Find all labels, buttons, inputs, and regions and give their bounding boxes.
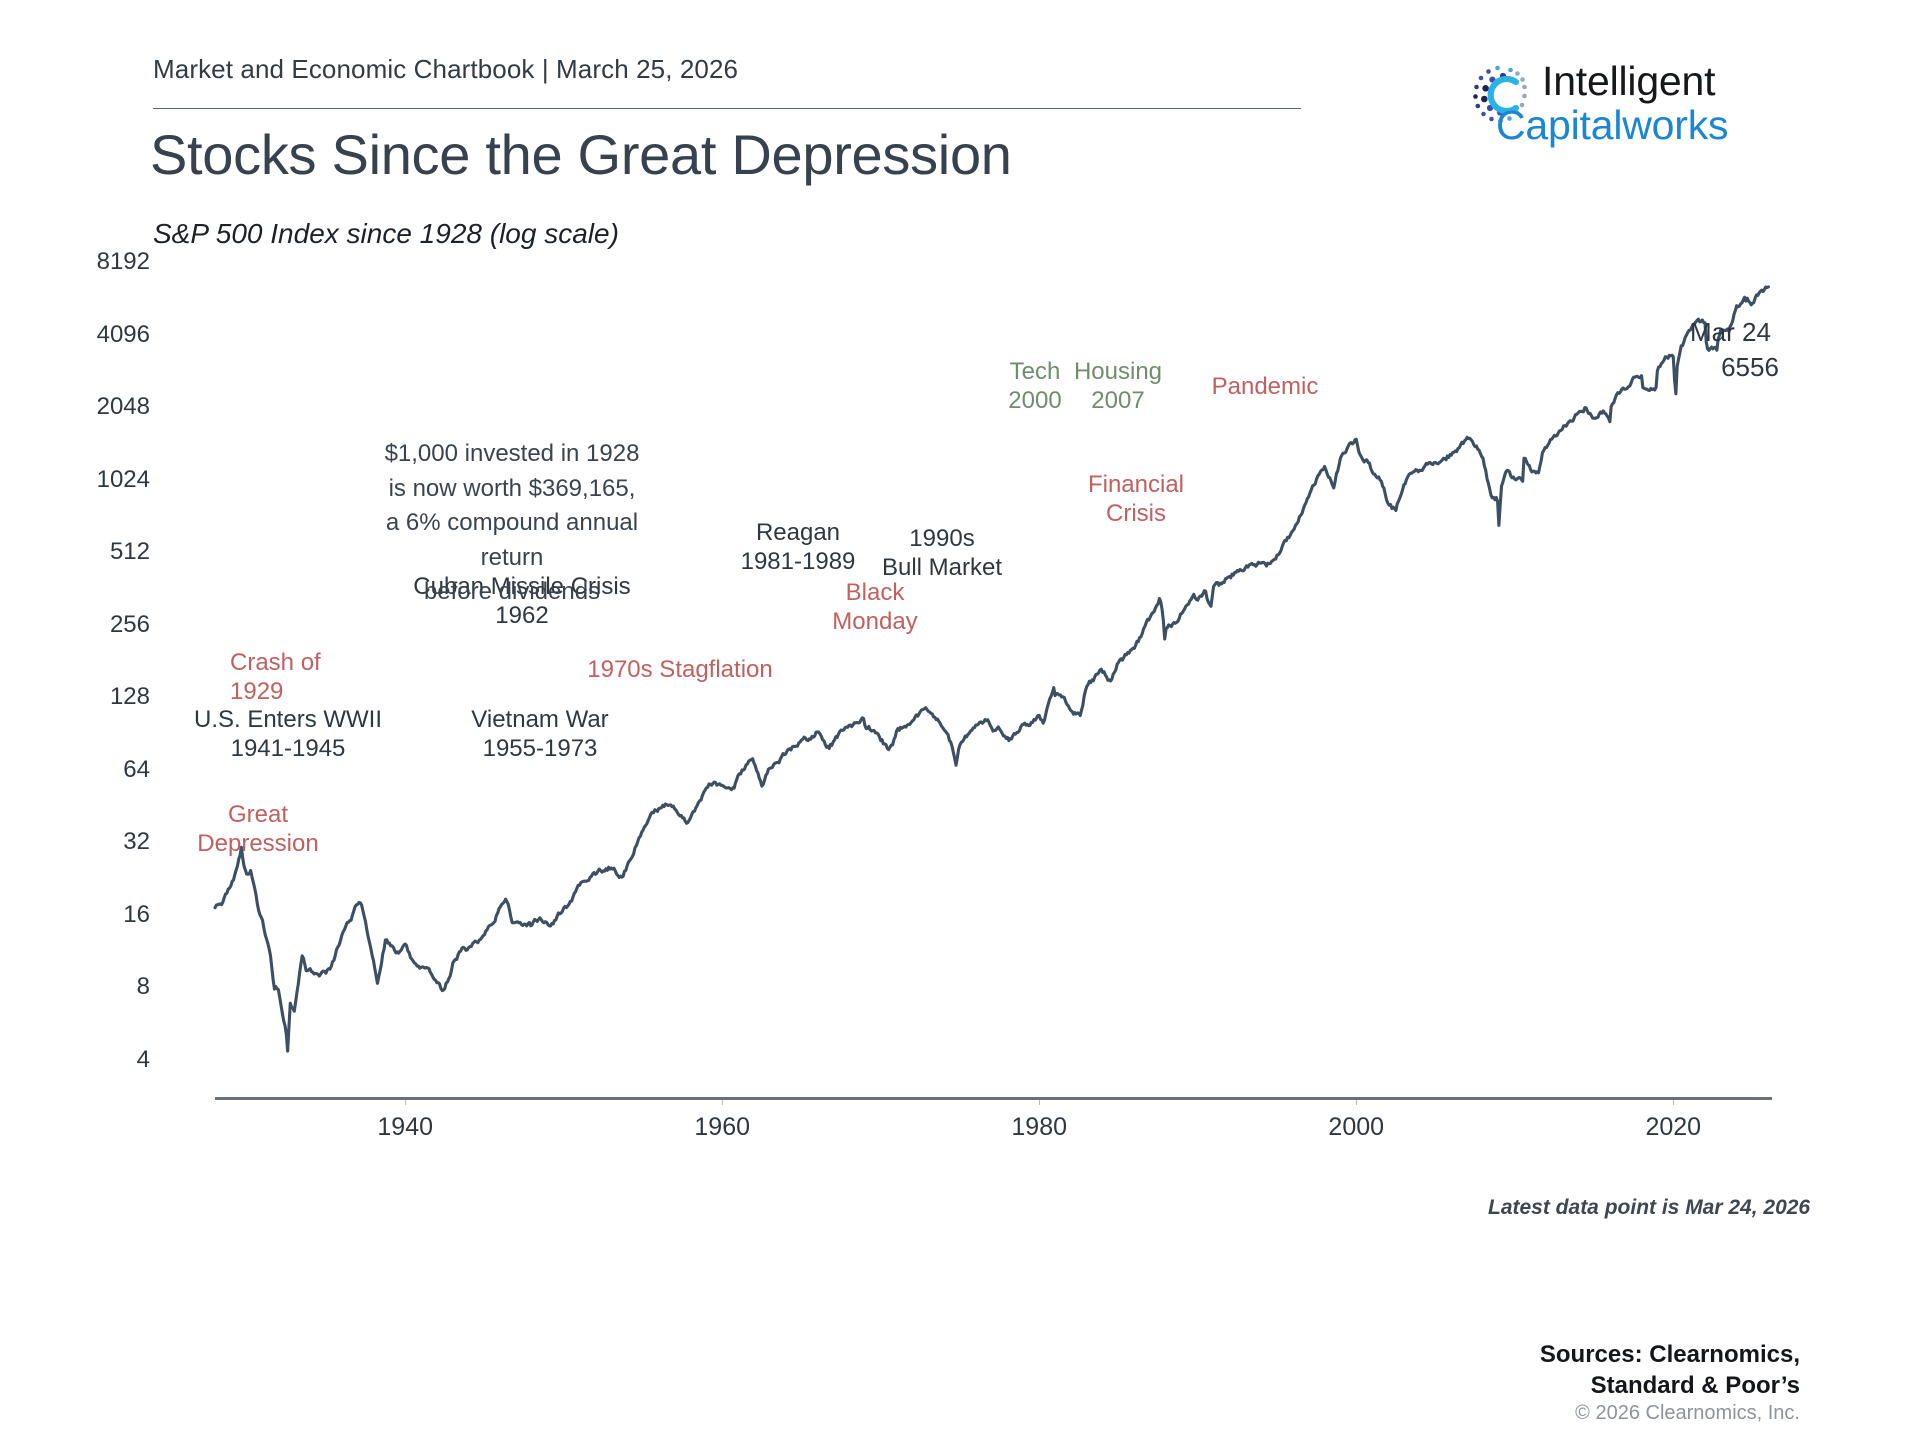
x-tick-mark-1940 [405, 1100, 406, 1105]
annotation-great-depression: Great Depression [138, 800, 378, 859]
y-tick-4: 4 [30, 1046, 150, 1074]
x-tick-mark-1980 [1039, 1100, 1040, 1105]
y-tick-128: 128 [30, 683, 150, 711]
latest-point-value: 6556 [1690, 350, 1810, 385]
y-tick-1024: 1024 [30, 466, 150, 494]
y-tick-256: 256 [30, 611, 150, 639]
investment-callout-line-4: before dividends [352, 575, 672, 610]
y-tick-512: 512 [30, 538, 150, 566]
x-tick-1960: 1960 [642, 1113, 802, 1142]
investment-callout-line-1: $1,000 invested in 1928 [352, 437, 672, 472]
sp500-log-chart: 819240962048102451225612864321684 194019… [0, 0, 1920, 1440]
x-tick-1940: 1940 [325, 1113, 485, 1142]
y-tick-8192: 8192 [30, 248, 150, 276]
y-tick-2048: 2048 [30, 393, 150, 421]
latest-point-label: Mar 24 6556 [1690, 315, 1810, 385]
annotation-bull-market-1990s: 1990s Bull Market [822, 524, 1062, 583]
annotation-pandemic: Pandemic [1145, 372, 1385, 401]
investment-callout: $1,000 invested in 1928is now worth $369… [352, 437, 672, 610]
x-tick-2000: 2000 [1276, 1113, 1436, 1142]
annotation-stagflation-1970s: 1970s Stagflation [560, 655, 800, 684]
sources-note: Sources: Clearnomics, Standard & Poor’s [1340, 1340, 1800, 1401]
annotation-financial-crisis: Financial Crisis [1016, 470, 1256, 529]
y-tick-4096: 4096 [30, 321, 150, 349]
copyright-note: © 2026 Clearnomics, Inc. [1340, 1402, 1800, 1425]
investment-callout-line-3: a 6% compound annual return [352, 506, 672, 575]
sources-line-2: Standard & Poor’s [1591, 1372, 1800, 1399]
y-tick-32: 32 [30, 828, 150, 856]
x-axis-line [215, 1097, 1772, 1100]
y-tick-64: 64 [30, 756, 150, 784]
y-tick-16: 16 [30, 901, 150, 929]
annotation-crash-1929: Crash of 1929 [230, 648, 470, 707]
chartbook-slide: Market and Economic Chartbook | March 25… [0, 0, 1920, 1440]
x-tick-mark-2000 [1356, 1100, 1357, 1105]
x-tick-mark-2020 [1673, 1100, 1674, 1105]
latest-data-note: Latest data point is Mar 24, 2026 [1488, 1196, 1810, 1220]
annotation-wwii: U.S. Enters WWII 1941-1945 [168, 705, 408, 764]
annotation-vietnam-war: Vietnam War 1955-1973 [420, 705, 660, 764]
annotation-black-monday: Black Monday [755, 578, 995, 637]
x-tick-mark-1960 [722, 1100, 723, 1105]
latest-point-date: Mar 24 [1690, 317, 1771, 347]
investment-callout-line-2: is now worth $369,165, [352, 472, 672, 507]
x-tick-2020: 2020 [1593, 1113, 1753, 1142]
sources-line-1: Sources: Clearnomics, [1540, 1341, 1800, 1368]
y-tick-8: 8 [30, 973, 150, 1001]
x-tick-1980: 1980 [959, 1113, 1119, 1142]
